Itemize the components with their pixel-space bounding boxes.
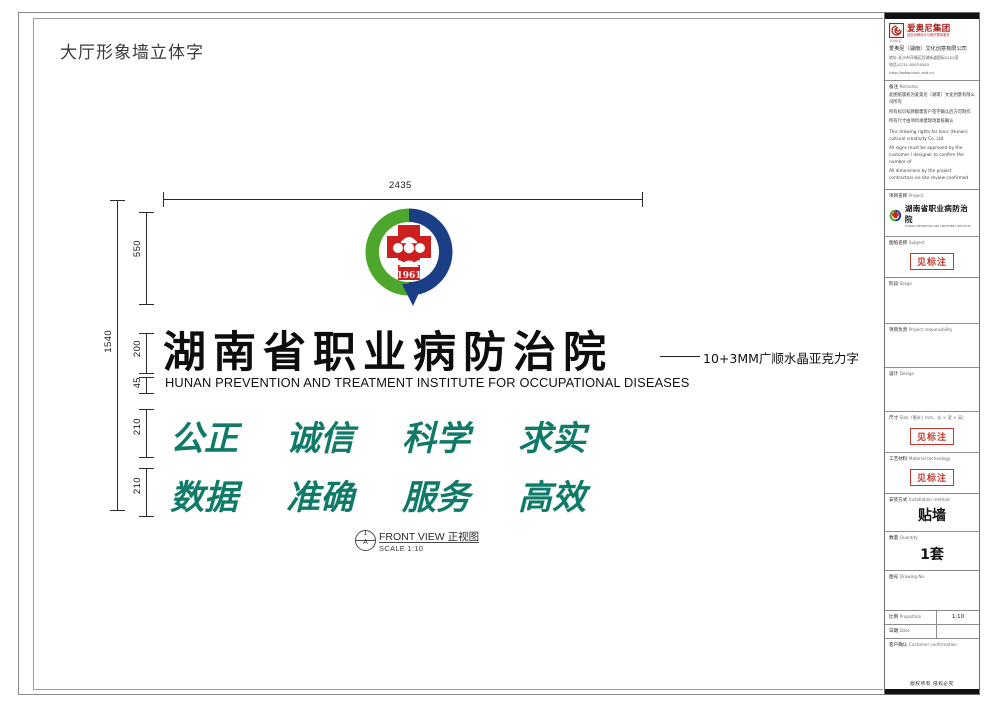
width-dim-tick-right bbox=[642, 192, 643, 207]
drawing-no-label-en: Drawing No. bbox=[900, 574, 926, 579]
segment-dim-value-2: 45 bbox=[132, 377, 143, 388]
title-block: 爱奥尼集团 创意标牌设计与制作整体服务 IONIC 爱奥尼（湖南）文化创意有限公… bbox=[884, 12, 980, 695]
company-address: 地址:长沙市开福区西湖街道国际2122室 bbox=[889, 55, 975, 61]
responsibility-label-en: Project responsibility bbox=[909, 327, 953, 332]
remarks-en-2: All dimensions by the project contractor… bbox=[889, 169, 975, 182]
responsibility-value bbox=[889, 334, 975, 339]
overall-height-dim-line bbox=[117, 200, 118, 510]
remarks-row: 备注 Remarks 此图纸版权为爱奥尼（湖南）文化创意有限公司所有 所有标识标… bbox=[885, 81, 979, 190]
proportion-row: 比例 Proportion 1:10 bbox=[885, 611, 979, 625]
segment-tick-4-top bbox=[139, 468, 154, 469]
material-row: 工艺材料 Material technology 见标注 bbox=[885, 453, 979, 494]
segment-dim-line-4 bbox=[146, 468, 147, 516]
stage-label-en: Stage bbox=[900, 281, 912, 286]
installation-row: 安装方式 Installation method 贴墙 bbox=[885, 494, 979, 533]
project-label: 项目名称 Project bbox=[889, 193, 975, 200]
title-block-footer: 版权所有 侵权必究 bbox=[885, 679, 979, 694]
remarks-body-en: This drawing rights for Ionic (Hunan) cu… bbox=[889, 130, 975, 183]
sheet-heading: 大厅形象墙立体字 bbox=[60, 38, 204, 63]
drawing-no-label: 图号 Drawing No. bbox=[889, 574, 975, 581]
installation-label-cn: 安装方式 bbox=[889, 498, 907, 503]
project-logo-name-cn: 湖南省职业病防治院 bbox=[905, 203, 975, 225]
installation-label: 安装方式 Installation method bbox=[889, 497, 975, 504]
stage-label: 阶段 Stage bbox=[889, 281, 975, 288]
project-label-en: Project bbox=[909, 193, 923, 198]
date-label-en: Date bbox=[900, 628, 910, 633]
segment-tick-3-bottom bbox=[139, 457, 154, 458]
customer-confirmation-label: 客户确认 Customer confirmation bbox=[889, 642, 975, 649]
design-label-en: Design bbox=[900, 371, 914, 376]
material-callout-text: 10+3MM广顺水晶亚克力字 bbox=[703, 348, 859, 367]
project-logo-icon bbox=[889, 209, 902, 222]
customer-confirmation-row: 客户确认 Customer confirmation bbox=[885, 639, 979, 679]
segment-tick-2-bottom bbox=[139, 393, 154, 394]
remarks-cn-1: 所有标识标牌都需客户签字确认后方可制作 bbox=[889, 110, 975, 117]
remarks-en-0: This drawing rights for Ionic (Hunan) cu… bbox=[889, 130, 975, 143]
company-website: http://www.ionic.net.cn bbox=[889, 70, 975, 76]
brand-name-cn: 爱奥尼集团 bbox=[907, 24, 950, 32]
slogan-2-word-4: 高效 bbox=[518, 470, 586, 519]
company-phone: 电话:0731-85074045 bbox=[889, 62, 975, 68]
date-row: 日期 Date bbox=[885, 625, 979, 639]
organisation-name-cn: 湖南省职业病防治院 bbox=[163, 318, 613, 380]
width-dimension-value: 2435 bbox=[389, 180, 412, 191]
subject-label-en: Subject bbox=[909, 240, 925, 245]
drawing-no-value bbox=[889, 581, 975, 586]
design-label-cn: 设计 bbox=[889, 372, 898, 377]
proportion-label: 比例 Proportion bbox=[885, 611, 937, 624]
segment-tick-1-bottom bbox=[139, 373, 154, 374]
segment-tick-4-bottom bbox=[139, 516, 154, 517]
project-row: 项目名称 Project 湖南省职业病防治院 HUNAN PREVENTION … bbox=[885, 190, 979, 238]
project-logo: 湖南省职业病防治院 HUNAN PREVENTION AND TREATMENT… bbox=[889, 199, 975, 233]
stage-row: 阶段 Stage bbox=[885, 278, 979, 324]
material-label-en: Material technology bbox=[909, 456, 951, 461]
ionic-logo-icon bbox=[889, 23, 904, 38]
proportion-value: 1:10 bbox=[937, 611, 979, 624]
title-block-brand: 爱奥尼集团 创意标牌设计与制作整体服务 IONIC 爱奥尼（湖南）文化创意有限公… bbox=[885, 19, 979, 81]
title-block-bottom-bar bbox=[885, 689, 979, 694]
material-callout-leader-line bbox=[660, 356, 700, 357]
subject-label-cn: 图纸名称 bbox=[889, 241, 907, 246]
proportion-label-en: Proportion bbox=[900, 614, 922, 619]
material-label: 工艺材料 Material technology bbox=[889, 456, 975, 463]
view-detail-number: 1 bbox=[356, 530, 375, 537]
segment-tick-0-bottom bbox=[139, 304, 154, 305]
responsibility-label: 项目负责 Project responsibility bbox=[889, 327, 975, 334]
project-label-cn: 项目名称 bbox=[889, 194, 907, 199]
design-label: 设计 Design bbox=[889, 371, 975, 378]
view-tag: 1 A FRONT VIEW 正视图 SCALE 1:10 bbox=[355, 528, 555, 556]
segment-dim-line-0 bbox=[146, 212, 147, 304]
size-label-cn: 尺寸 bbox=[889, 416, 898, 421]
hospital-logo: 1961 bbox=[350, 208, 468, 312]
size-row: 尺寸 Size（毫米 | mm，长 × 宽 × 高） 见标注 bbox=[885, 412, 979, 453]
installation-value: 贴墙 bbox=[889, 503, 975, 528]
brand-name-en: IONIC bbox=[889, 39, 975, 43]
installation-label-en: Installation method bbox=[909, 497, 950, 502]
responsibility-label-cn: 项目负责 bbox=[889, 328, 907, 333]
segment-dim-line-1 bbox=[146, 333, 147, 373]
segment-dim-value-0: 550 bbox=[132, 240, 143, 257]
segment-dim-value-1: 200 bbox=[132, 340, 143, 357]
drawing-no-row: 图号 Drawing No. bbox=[885, 571, 979, 611]
date-value bbox=[937, 625, 979, 638]
size-label-en: Size（毫米 | mm，长 × 宽 × 高） bbox=[900, 415, 967, 420]
remarks-cn-0: 此图纸版权为爱奥尼（湖南）文化创意有限公司所有 bbox=[889, 93, 975, 106]
size-stamp: 见标注 bbox=[910, 428, 954, 445]
width-dimension-line bbox=[163, 199, 643, 200]
subject-row: 图纸名称 Subject 见标注 bbox=[885, 237, 979, 278]
segment-dim-line-3 bbox=[146, 409, 147, 457]
subject-stamp: 见标注 bbox=[910, 253, 954, 270]
customer-label-en: Customer confirmation bbox=[909, 642, 957, 647]
slogan-2-word-2: 准确 bbox=[286, 470, 354, 519]
slogan-1-word-2: 诚信 bbox=[286, 411, 354, 460]
customer-label-cn: 客户确认 bbox=[889, 643, 907, 648]
overall-dim-tick-bottom bbox=[110, 510, 125, 511]
segment-tick-3-top bbox=[139, 409, 154, 410]
remarks-label-en: Remarks bbox=[900, 84, 918, 89]
quantity-label-cn: 数量 bbox=[889, 536, 898, 541]
proportion-label-cn: 比例 bbox=[889, 615, 898, 620]
size-value-wrap: 见标注 bbox=[889, 422, 975, 449]
brand-tagline: 创意标牌设计与制作整体服务 bbox=[907, 34, 950, 37]
responsibility-row: 项目负责 Project responsibility bbox=[885, 324, 979, 368]
date-label: 日期 Date bbox=[885, 625, 937, 638]
quantity-label-en: Quantity bbox=[900, 535, 918, 540]
material-stamp: 见标注 bbox=[910, 469, 954, 486]
remarks-cn-2: 所有尺寸由项目承建现场复核确认 bbox=[889, 119, 975, 126]
view-tag-bubble: 1 A bbox=[355, 530, 376, 551]
design-row: 设计 Design bbox=[885, 368, 979, 412]
remarks-label-cn: 备注 bbox=[889, 85, 898, 90]
hospital-logo-svg: 1961 bbox=[350, 208, 468, 312]
slogan-2-word-3: 服务 bbox=[402, 470, 470, 519]
view-name-underline bbox=[379, 542, 479, 543]
remarks-label: 备注 Remarks bbox=[889, 84, 975, 91]
width-dim-tick-left bbox=[163, 192, 164, 207]
quantity-value: 1套 bbox=[889, 542, 975, 567]
stage-value bbox=[889, 288, 975, 293]
drawing-sheet: 大厅形象墙立体字 2435 1540 550 200 45 210 210 bbox=[0, 0, 1000, 707]
copyright-text: 版权所有 侵权必究 bbox=[885, 679, 979, 689]
slogan-1-word-1: 公正 bbox=[170, 411, 238, 460]
segment-dim-line-2 bbox=[146, 377, 147, 393]
date-label-cn: 日期 bbox=[889, 629, 898, 634]
remarks-body-cn: 此图纸版权为爱奥尼（湖南）文化创意有限公司所有 所有标识标牌都需客户签字确认后方… bbox=[889, 93, 975, 126]
slogan-row-2: 数据准确服务高效 bbox=[170, 470, 586, 519]
remarks-en-1: All signs must be approved by the custom… bbox=[889, 146, 975, 166]
view-scale: SCALE 1:10 bbox=[379, 544, 423, 553]
subject-value-wrap: 见标注 bbox=[889, 247, 975, 274]
design-value bbox=[889, 378, 975, 383]
organisation-name-en: HUNAN PREVENTION AND TREATMENT INSTITUTE… bbox=[165, 376, 689, 390]
company-name: 爱奥尼（湖南）文化创意有限公司 bbox=[889, 46, 975, 53]
slogan-1-word-4: 求实 bbox=[518, 411, 586, 460]
subject-label: 图纸名称 Subject bbox=[889, 240, 975, 247]
logo-year-text: 1961 bbox=[396, 271, 421, 281]
quantity-label: 数量 Quantity bbox=[889, 535, 975, 542]
slogan-1-word-3: 科学 bbox=[402, 411, 470, 460]
material-value-wrap: 见标注 bbox=[889, 463, 975, 490]
overall-height-dim-value: 1540 bbox=[103, 330, 114, 353]
segment-dim-value-4: 210 bbox=[132, 477, 143, 494]
material-label-cn: 工艺材料 bbox=[889, 457, 907, 462]
slogan-row-1: 公正诚信科学求实 bbox=[170, 411, 586, 460]
slogan-2-word-1: 数据 bbox=[170, 470, 238, 519]
overall-dim-tick-top bbox=[110, 200, 125, 201]
drawing-no-label-cn: 图号 bbox=[889, 575, 898, 580]
segment-tick-0-top bbox=[139, 212, 154, 213]
segment-dim-value-3: 210 bbox=[132, 418, 143, 435]
segment-tick-1-top bbox=[139, 333, 154, 334]
size-label: 尺寸 Size（毫米 | mm，长 × 宽 × 高） bbox=[889, 415, 975, 422]
quantity-row: 数量 Quantity 1套 bbox=[885, 532, 979, 571]
view-sheet-letter: A bbox=[356, 539, 375, 546]
stage-label-cn: 阶段 bbox=[889, 282, 898, 287]
project-logo-name-en: HUNAN PREVENTION AND TREATMENT INSTITUTE bbox=[905, 225, 975, 228]
